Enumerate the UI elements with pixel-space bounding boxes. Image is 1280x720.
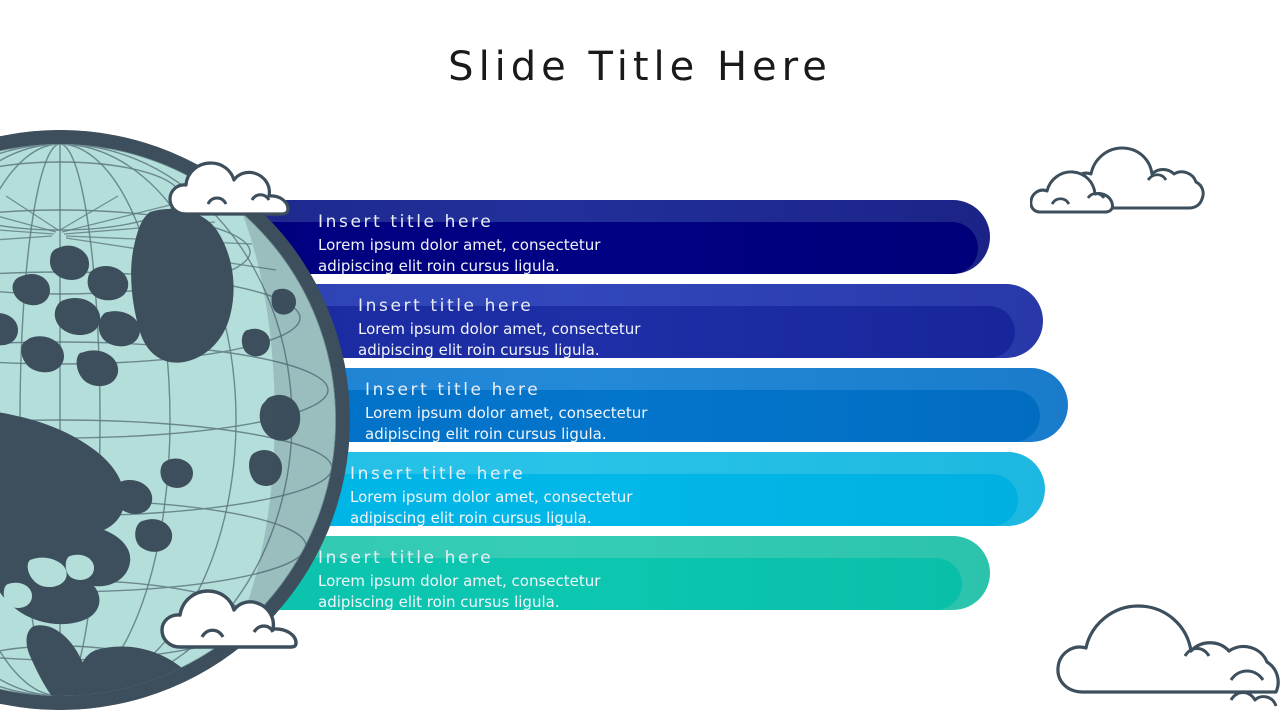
bar-4-body-line-2: adipiscing elit roin cursus ligula. [350, 508, 632, 529]
bar-3-title: Insert title here [365, 380, 647, 400]
bar-3-body-line-1: Lorem ipsum dolor amet, consectetur [365, 403, 647, 424]
bar-5-body-line-2: adipiscing elit roin cursus ligula. [318, 592, 600, 613]
bar-1-body-line-1: Lorem ipsum dolor amet, consectetur [318, 235, 600, 256]
bar-2-body-line-1: Lorem ipsum dolor amet, consectetur [358, 319, 640, 340]
bar-2-body-line-2: adipiscing elit roin cursus ligula. [358, 340, 640, 361]
slide-canvas: Slide Title Here [0, 0, 1280, 720]
bar-2-title: Insert title here [358, 296, 640, 316]
bar-4-text-block: Insert title here Lorem ipsum dolor amet… [350, 464, 632, 528]
cloud-top-left-icon [168, 160, 308, 226]
bar-1-text-block: Insert title here Lorem ipsum dolor amet… [318, 212, 600, 276]
cloud-bottom-left-icon [160, 585, 320, 659]
cloud-bottom-right-icon [1035, 596, 1280, 720]
bar-1-title: Insert title here [318, 212, 600, 232]
bar-1-body-line-2: adipiscing elit roin cursus ligula. [318, 256, 600, 277]
bar-2-text-block: Insert title here Lorem ipsum dolor amet… [358, 296, 640, 360]
bar-3-body-line-2: adipiscing elit roin cursus ligula. [365, 424, 647, 445]
bar-4-title: Insert title here [350, 464, 632, 484]
bar-4-body-line-1: Lorem ipsum dolor amet, consectetur [350, 487, 632, 508]
bar-3-text-block: Insert title here Lorem ipsum dolor amet… [365, 380, 647, 444]
bar-5-text-block: Insert title here Lorem ipsum dolor amet… [318, 548, 600, 612]
bar-5-body-line-1: Lorem ipsum dolor amet, consectetur [318, 571, 600, 592]
bar-5-title: Insert title here [318, 548, 600, 568]
cloud-top-right-icon [1030, 140, 1210, 222]
